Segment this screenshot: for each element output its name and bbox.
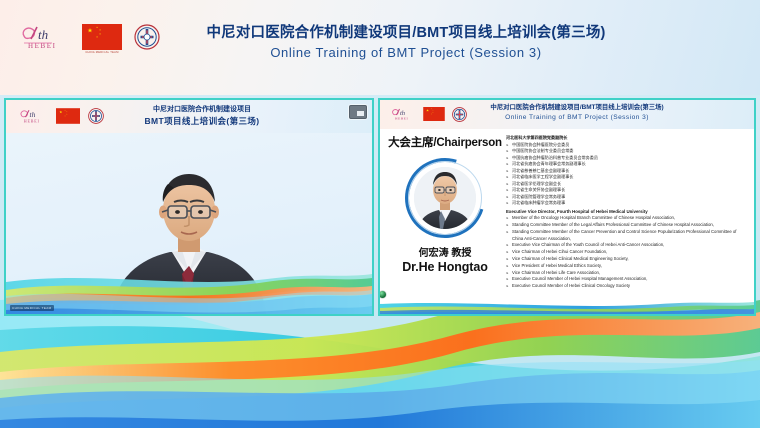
speaker-slide-waves	[6, 256, 372, 314]
shared-slide-title-block: 中尼对口医院合作机制建设项目/BMT项目线上培训会(第三场) Online Tr…	[380, 103, 754, 123]
speaker-slide-header: th HEBEI	[6, 100, 372, 133]
camera-watermark: CHINA MEDICAL TEAM	[10, 305, 54, 311]
speaker-slide-title-line2: BMT项目线上培训会(第三场)	[32, 115, 372, 128]
speaker-camera-area: CHINA MEDICAL TEAM	[6, 133, 372, 314]
speaker-portrait	[414, 167, 476, 229]
bio-item-en: Executive Council Member of Hebei Clinic…	[506, 283, 748, 290]
shared-slide-title-cn: 中尼对口医院合作机制建设项目/BMT项目线上培训会(第三场)	[400, 103, 754, 113]
bio-item-en: Member of the Oncology Hospital Branch C…	[506, 215, 748, 222]
banner-title-block: 中尼对口医院合作机制建设项目/BMT项目线上培训会(第三场) Online Tr…	[0, 24, 760, 63]
bio-item-en: Vice Chairman of Hebei Cihui Cancer Foun…	[506, 249, 748, 256]
speaker-video-tile[interactable]: th HEBEI	[4, 98, 374, 316]
speaker-slide-title-block: 中尼对口医院合作机制建设项目 BMT项目线上培训会(第三场)	[6, 104, 372, 128]
banner-title-en: Online Training of BMT Project (Session …	[52, 43, 760, 63]
bio-item-en: Vice President of Hebei Medical Ethics S…	[506, 263, 748, 270]
shared-slide-title-en: Online Training of BMT Project (Session …	[400, 113, 754, 123]
bio-item-en: Standing Committee Member of the Legal A…	[506, 222, 748, 229]
speaker-slide-title-line1: 中尼对口医院合作机制建设项目	[32, 104, 372, 115]
bio-heading-en: Executive Vice Director, Fourth Hospital…	[506, 209, 748, 216]
bio-item-en: Executive Vice Chairman of the Youth Cou…	[506, 242, 748, 249]
video-stage: th HEBEI	[0, 95, 760, 325]
speaker-portrait-wrap	[405, 158, 485, 238]
bio-item-en: Vice Chairman of Hebei Life Care Associa…	[506, 270, 748, 277]
speaker-name-en: Dr.He Hongtao	[386, 260, 504, 274]
mouse-cursor-dot	[379, 291, 386, 298]
bio-item-en: Executive Council Member of Hebei Hospit…	[506, 276, 748, 283]
chairperson-label: 大会主席/Chairperson	[386, 134, 504, 150]
biography-block: 河北医科大学第四医院党委副院长 中国医院协会肿瘤医院分会委员 中国医院协会法制专…	[506, 135, 748, 290]
bio-item-en: Vice Chairman of Hebei Clinical Medical …	[506, 256, 748, 263]
event-banner: th HEBEI CHINA MEDICAL TEAM	[0, 0, 760, 95]
shared-slide-body: 大会主席/Chairperson	[380, 129, 754, 314]
shared-slide-tile[interactable]: th HEBEI	[378, 98, 756, 316]
picture-in-picture-icon[interactable]	[349, 105, 367, 119]
bio-item-en: Standing Committee Member of the Cancer …	[506, 229, 748, 243]
banner-title-cn: 中尼对口医院合作机制建设项目/BMT项目线上培训会(第三场)	[52, 24, 760, 43]
speaker-name-cn: 何宏涛 教授	[386, 244, 504, 259]
chairperson-block: 大会主席/Chairperson	[386, 134, 504, 274]
bio-heading-cn: 河北医科大学第四医院党委副院长	[506, 135, 748, 142]
shared-slide-footer-waves	[380, 298, 754, 314]
bio-item-cn: 河北省临床肿瘤学会常务理事	[506, 200, 748, 207]
shared-slide-header: th HEBEI	[380, 100, 754, 130]
